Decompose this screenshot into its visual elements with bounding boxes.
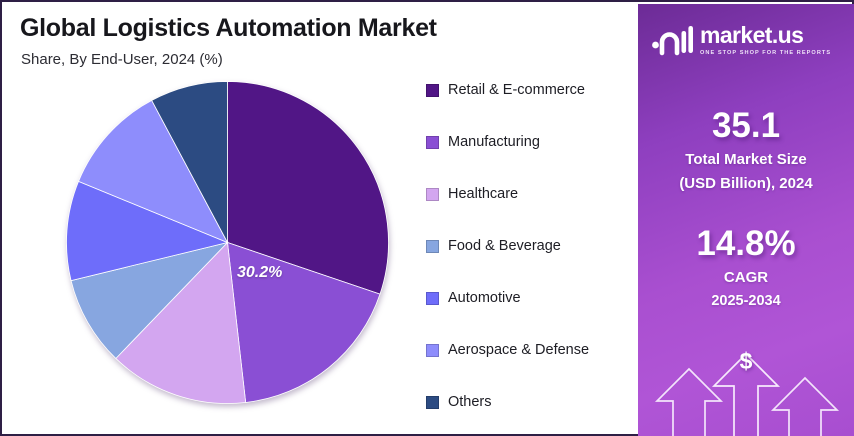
stat-cagr-caption-line2: 2025-2034 [638,292,854,311]
stat-cagr-caption-line1: CAGR [638,268,854,287]
stat-cagr: 14.8% CAGR 2025-2034 [638,226,854,310]
legend-item[interactable]: Healthcare [426,168,631,220]
legend-item-label: Manufacturing [448,134,540,150]
stat-market-size-caption-line2: (USD Billion), 2024 [638,174,854,193]
chart-panel: Global Logistics Automation Market Share… [2,2,636,434]
pie-chart: 30.2% [65,80,390,405]
legend-item-label: Automotive [448,290,521,306]
legend-item[interactable]: Aerospace & Defense [426,324,631,376]
dollar-symbol: $ [638,348,854,375]
market-us-logo-icon [651,23,693,57]
legend-item[interactable]: Retail & E-commerce [426,64,631,116]
legend-item[interactable]: Manufacturing [426,116,631,168]
legend-swatch-icon [426,188,439,201]
legend-item-label: Food & Beverage [448,238,561,254]
infographic-card: Global Logistics Automation Market Share… [0,0,854,436]
page-subtitle: Share, By End-User, 2024 (%) [21,51,223,68]
legend-item-label: Healthcare [448,186,518,202]
brand-tagline: ONE STOP SHOP FOR THE REPORTS [700,50,831,56]
page-title: Global Logistics Automation Market [20,14,437,43]
legend-swatch-icon [426,396,439,409]
legend-item[interactable]: Others [426,376,631,428]
legend-item-label: Aerospace & Defense [448,342,589,358]
stat-market-size-caption-line1: Total Market Size [638,150,854,169]
stat-market-size: 35.1 Total Market Size (USD Billion), 20… [638,108,854,193]
legend-swatch-icon [426,84,439,97]
chart-legend: Retail & E-commerceManufacturingHealthca… [426,64,631,428]
legend-item-label: Retail & E-commerce [448,82,585,98]
brand-panel: market.us ONE STOP SHOP FOR THE REPORTS … [638,4,854,436]
stat-market-size-value: 35.1 [638,108,854,145]
pie-chart-svg [65,80,390,405]
legend-swatch-icon [426,292,439,305]
legend-item[interactable]: Automotive [426,272,631,324]
brand-name: market.us [700,24,831,47]
brand-logo[interactable]: market.us ONE STOP SHOP FOR THE REPORTS [651,18,841,62]
legend-item-label: Others [448,394,492,410]
legend-swatch-icon [426,136,439,149]
stat-cagr-value: 14.8% [638,226,854,263]
legend-item[interactable]: Food & Beverage [426,220,631,272]
brand-logo-text: market.us ONE STOP SHOP FOR THE REPORTS [700,24,831,56]
pie-slice-label-retail: 30.2% [237,264,282,282]
legend-swatch-icon [426,240,439,253]
growth-arrows-group: $ [638,344,854,436]
legend-swatch-icon [426,344,439,357]
